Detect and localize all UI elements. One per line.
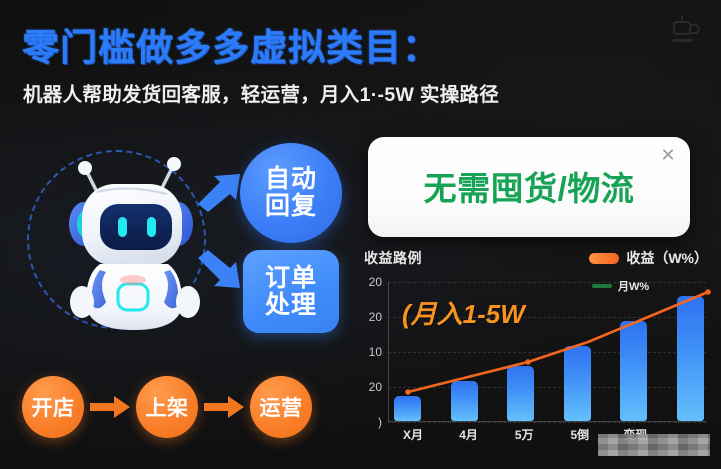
x-tick-label: X月 bbox=[394, 426, 432, 443]
trend-point bbox=[705, 289, 711, 295]
close-icon[interactable]: ✕ bbox=[658, 145, 678, 165]
earnings-chart: 收益路例 收益（W%） 20201020) 月W% (月入1-5W X月4月5万… bbox=[360, 248, 712, 463]
x-tick-label: 5倒 bbox=[561, 426, 599, 443]
trend-point bbox=[525, 359, 531, 365]
arrow-down-right-icon bbox=[196, 250, 248, 290]
bubble-order-line2: 处理 bbox=[265, 291, 317, 319]
callout-card: 无需囤货/物流 ✕ bbox=[368, 137, 690, 237]
steps-row: 开店 上架 运营 bbox=[22, 376, 352, 438]
bubble-order-line1: 订单 bbox=[265, 264, 317, 292]
chart-top-annotation: 月W% bbox=[618, 278, 649, 294]
arrow-right-icon bbox=[204, 396, 244, 418]
page-title: 零门槛做多多虚拟类目： bbox=[22, 17, 440, 71]
chart-legend[interactable]: 收益（W%） bbox=[589, 248, 708, 268]
bubble-auto-line2: 回复 bbox=[265, 192, 317, 220]
page-subtitle: 机器人帮助发货回客服，轻运营，月入1·-5W 实操路径 bbox=[23, 78, 499, 107]
step-arrow-1 bbox=[84, 396, 136, 418]
arrow-right-icon bbox=[90, 396, 130, 418]
step-operations[interactable]: 运营 bbox=[250, 376, 312, 438]
promo-poster: 零门槛做多多虚拟类目： 机器人帮助发货回客服，轻运营，月入1·-5W 实操路径 bbox=[0, 0, 721, 469]
legend-swatch-icon bbox=[589, 253, 619, 264]
legend-label: 收益（W%） bbox=[626, 248, 708, 268]
feature-bubble-auto-reply[interactable]: 自动 回复 bbox=[240, 143, 342, 243]
step-listing[interactable]: 上架 bbox=[136, 376, 198, 438]
x-tick-label: 5万 bbox=[505, 426, 543, 443]
bubble-auto-line1: 自动 bbox=[265, 165, 317, 193]
y-tick-label: ) bbox=[378, 415, 382, 429]
cup-watermark-icon bbox=[667, 14, 703, 54]
feature-bubble-order-processing[interactable]: 订单 处理 bbox=[243, 250, 339, 333]
robot-mascot-icon bbox=[52, 152, 217, 342]
trend-point bbox=[405, 389, 411, 395]
y-tick-label: 20 bbox=[369, 380, 382, 394]
y-tick-label: 20 bbox=[369, 275, 382, 289]
callout-text: 无需囤货/物流 bbox=[368, 162, 690, 210]
x-tick-label: 4月 bbox=[450, 426, 488, 443]
step-arrow-2 bbox=[198, 396, 250, 418]
y-tick-label: 10 bbox=[369, 345, 382, 359]
chart-title: 收益路例 bbox=[364, 248, 422, 268]
green-dash-icon bbox=[592, 284, 612, 288]
step-open-shop[interactable]: 开店 bbox=[22, 376, 84, 438]
y-tick-label: 20 bbox=[369, 310, 382, 324]
blurred-censor-block bbox=[598, 434, 710, 456]
gridline bbox=[388, 422, 706, 423]
chart-orange-annotation: (月入1-5W bbox=[402, 294, 525, 331]
